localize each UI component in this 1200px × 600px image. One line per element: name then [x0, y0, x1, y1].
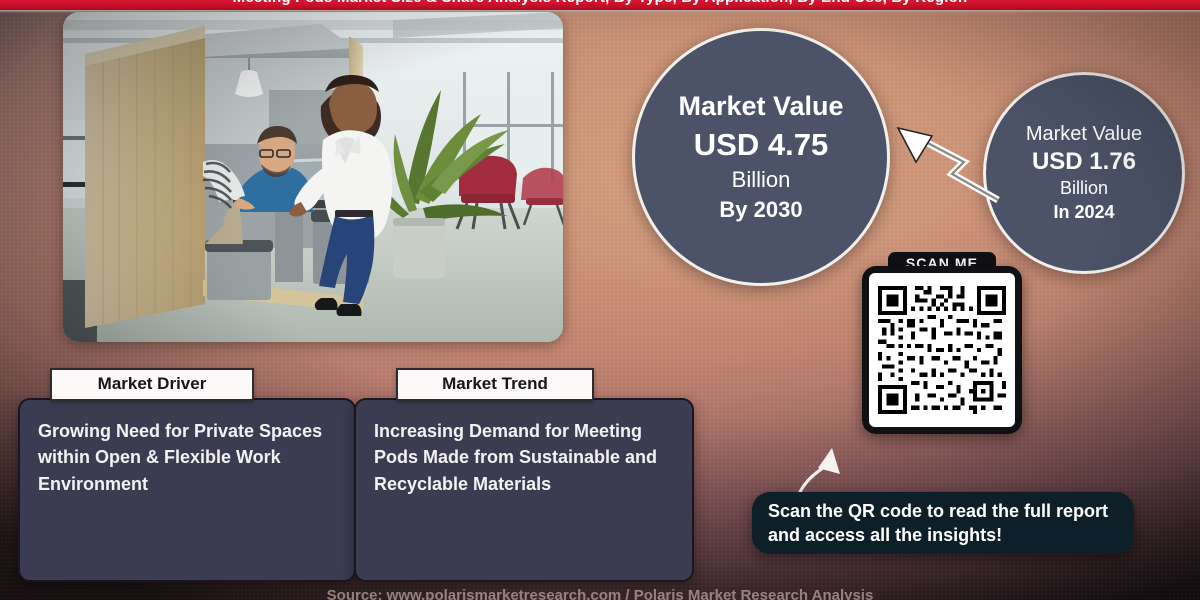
scan-banner-text: Scan the QR code to read the full report… [768, 499, 1118, 548]
market-driver-card: Growing Need for Private Spaces within O… [18, 398, 356, 582]
forecast-year: By 2030 [719, 198, 802, 222]
source-caption: Source: www.polarismarketresearch.com / … [0, 587, 1200, 600]
qr-code-block[interactable]: SCAN ME [862, 252, 1022, 437]
top-grey-fade [0, 10, 1200, 13]
zigzag-arrow-icon [876, 118, 1002, 204]
forecast-label: Market Value [678, 92, 843, 122]
base-year: In 2024 [1053, 203, 1114, 223]
base-unit: Billion [1060, 179, 1108, 199]
qr-code-icon[interactable] [869, 273, 1015, 427]
top-band-title: Meeting Pods Market Size & Share Analysi… [0, 0, 1200, 6]
market-trend-card: Increasing Demand for Meeting Pods Made … [354, 398, 694, 582]
base-value: USD 1.76 [1032, 149, 1136, 175]
market-driver-chip: Market Driver [50, 368, 254, 401]
meeting-pod-illustration [63, 12, 563, 342]
qr-frame [862, 266, 1022, 434]
market-value-base-circle: Market Value USD 1.76 Billion In 2024 [983, 72, 1185, 274]
forecast-unit: Billion [732, 168, 791, 192]
top-red-band: Meeting Pods Market Size & Share Analysi… [0, 0, 1200, 10]
qr-matrix [874, 278, 1010, 422]
hero-photo [63, 12, 563, 342]
forecast-value: USD 4.75 [694, 128, 828, 162]
infographic-canvas: Meeting Pods Market Size & Share Analysi… [0, 0, 1200, 600]
market-value-forecast-circle: Market Value USD 4.75 Billion By 2030 [632, 28, 890, 286]
base-label: Market Value [1026, 123, 1142, 145]
market-trend-chip: Market Trend [396, 368, 594, 401]
scan-qr-banner[interactable]: Scan the QR code to read the full report… [752, 492, 1134, 554]
